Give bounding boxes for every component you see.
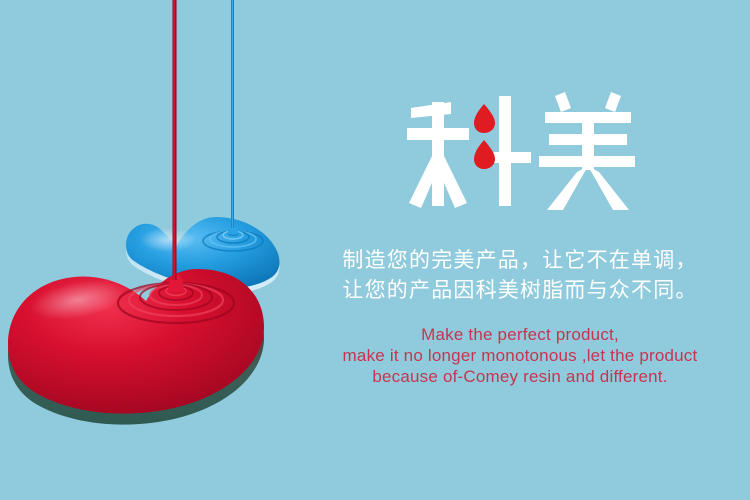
resin-artwork bbox=[0, 0, 330, 500]
resin-artwork-svg bbox=[0, 0, 330, 500]
logo-droplet-icons bbox=[474, 104, 495, 169]
blue-heart-highlight bbox=[140, 228, 196, 252]
tagline-en-line-3: because of-Comey resin and different. bbox=[300, 366, 740, 387]
red-resin-stream bbox=[173, 0, 177, 280]
brand-logo bbox=[300, 88, 740, 216]
logo-kemei-svg bbox=[405, 90, 635, 214]
droplet-icon-lower bbox=[474, 140, 495, 169]
blue-resin-stream bbox=[231, 0, 234, 228]
poster-canvas: 制造您的完美产品，让它不在单调， 让您的产品因科美树脂而与众不同。 Make t… bbox=[0, 0, 750, 500]
tagline-en-line-2: make it no longer monotonous ,let the pr… bbox=[300, 345, 740, 366]
droplet-icon-upper bbox=[474, 104, 495, 133]
tagline-english: Make the perfect product, make it no lon… bbox=[300, 324, 740, 387]
tagline-en-line-1: Make the perfect product, bbox=[300, 324, 740, 345]
tagline-cn-line-1: 制造您的完美产品，让它不在单调， bbox=[300, 246, 740, 276]
brand-text-block: 制造您的完美产品，让它不在单调， 让您的产品因科美树脂而与众不同。 Make t… bbox=[300, 88, 740, 387]
logo-char-ke bbox=[407, 96, 531, 208]
tagline-cn-line-2: 让您的产品因科美树脂而与众不同。 bbox=[300, 276, 740, 306]
red-heart-puddle bbox=[8, 269, 264, 425]
logo-char-mei bbox=[539, 92, 635, 210]
tagline-chinese: 制造您的完美产品，让它不在单调， 让您的产品因科美树脂而与众不同。 bbox=[300, 246, 740, 306]
